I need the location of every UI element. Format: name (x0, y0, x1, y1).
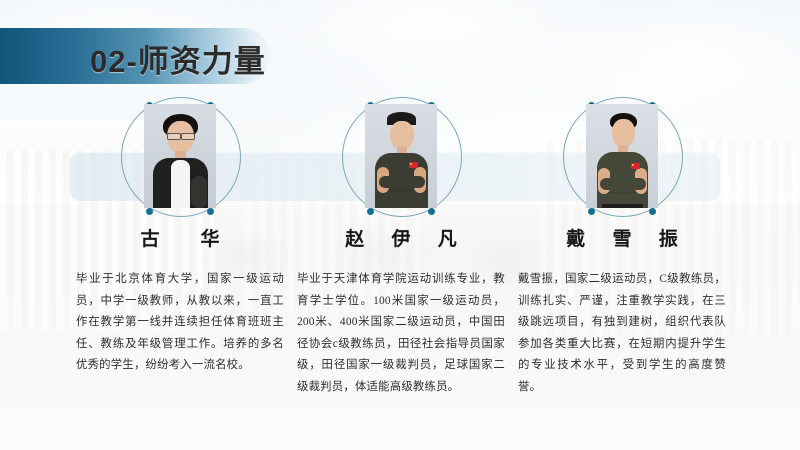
ring-dot-icon (367, 208, 374, 215)
slide-root: 02-师资力量 (0, 0, 800, 450)
avatar (62, 95, 298, 217)
portrait-photo (586, 104, 658, 208)
ring-dot-icon (649, 208, 656, 215)
faculty-name: 赵 伊 凡 (283, 224, 519, 251)
avatar (283, 95, 519, 217)
faculty-card[interactable]: 戴 雪 振 戴雪振，国家二级运动员，C级教练员，训练扎实、严谨，注重教学实践，在… (504, 95, 740, 398)
avatar (504, 95, 740, 217)
faculty-list: 古 华 毕业于北京体育大学，国家一级运动员，中学一级教师，从教以来，一直工作在教… (0, 0, 800, 450)
faculty-name: 古 华 (62, 224, 298, 251)
faculty-description: 毕业于北京体育大学，国家一级运动员，中学一级教师，从教以来，一直工作在教学第一线… (76, 269, 284, 377)
portrait-photo (144, 104, 216, 208)
ring-dot-icon (146, 208, 153, 215)
faculty-description: 戴雪振，国家二级运动员，C级教练员，训练扎实、严谨，注重教学实践，在三级跳远项目… (518, 269, 726, 398)
portrait-photo (365, 104, 437, 208)
ring-dot-icon (207, 208, 214, 215)
ring-dot-icon (428, 208, 435, 215)
faculty-name: 戴 雪 振 (504, 224, 740, 251)
faculty-description: 毕业于天津体育学院运动训练专业，教育学士学位。100米国家一级运动员，200米、… (297, 269, 505, 398)
faculty-card[interactable]: 赵 伊 凡 毕业于天津体育学院运动训练专业，教育学士学位。100米国家一级运动员… (283, 95, 519, 398)
ring-dot-icon (588, 208, 595, 215)
faculty-card[interactable]: 古 华 毕业于北京体育大学，国家一级运动员，中学一级教师，从教以来，一直工作在教… (62, 95, 298, 377)
